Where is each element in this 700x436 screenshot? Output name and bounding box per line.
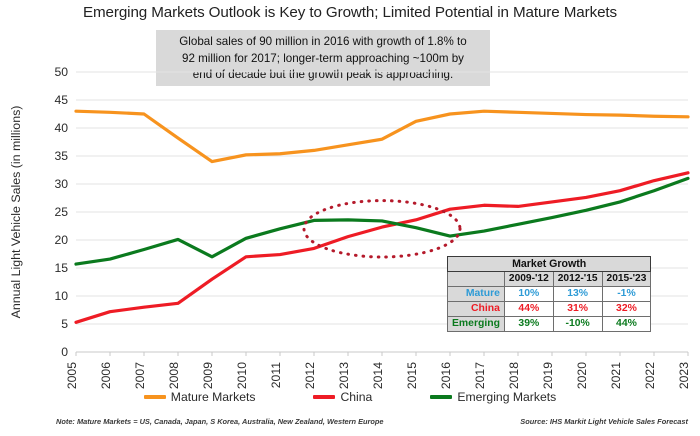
y-tick-label: 40	[54, 121, 68, 135]
market-growth-table: Market Growth 2009-'122012-'152015-'23 M…	[447, 256, 651, 332]
growth-table-cell: 39%	[504, 317, 553, 332]
y-tick-label: 15	[54, 261, 68, 275]
x-tick-label: 2013	[337, 362, 351, 389]
growth-table-cell: 13%	[553, 287, 602, 302]
growth-table-cell: 32%	[602, 302, 651, 317]
x-tick-label: 2021	[609, 362, 623, 389]
growth-table-col-header: 2015-'23	[602, 272, 651, 287]
x-tick-label: 2016	[439, 362, 453, 389]
series-line-mature-markets	[76, 111, 688, 161]
chart-legend: Mature MarketsChinaEmerging Markets	[0, 390, 700, 404]
legend-label: Emerging Markets	[457, 390, 556, 404]
x-tick-label: 2018	[507, 362, 521, 389]
growth-table-title: Market Growth	[448, 257, 651, 272]
legend-item-mature-markets[interactable]: Mature Markets	[144, 390, 256, 404]
slide-root: Emerging Markets Outlook is Key to Growt…	[0, 0, 700, 436]
y-tick-label: 45	[54, 93, 68, 107]
growth-table-cell: -10%	[553, 317, 602, 332]
growth-table-row-label: Mature	[448, 287, 505, 302]
growth-table-row: Mature10%13%-1%	[448, 287, 651, 302]
legend-label: China	[340, 390, 372, 404]
x-tick-label: 2005	[65, 362, 79, 389]
growth-table-body: Mature10%13%-1%China44%31%32%Emerging39%…	[448, 287, 651, 332]
y-tick-label: 35	[54, 149, 68, 163]
growth-table-cell: -1%	[602, 287, 651, 302]
growth-table-col-header: 2009-'12	[504, 272, 553, 287]
legend-swatch-icon	[313, 395, 335, 399]
x-tick-label: 2020	[575, 362, 589, 389]
y-axis-title: Annual Light Vehicle Sales (in millions)	[9, 106, 23, 319]
y-tick-label: 5	[61, 317, 68, 331]
growth-table-col-header: 2012-'15	[553, 272, 602, 287]
y-tick-label: 25	[54, 205, 68, 219]
x-tick-label: 2014	[371, 362, 385, 389]
growth-table-row-label: Emerging	[448, 317, 505, 332]
growth-table-header-row: 2009-'122012-'152015-'23	[448, 272, 651, 287]
y-tick-label: 20	[54, 233, 68, 247]
x-tick-label: 2012	[303, 362, 317, 389]
x-tick-label: 2009	[201, 362, 215, 389]
growth-table-cell: 44%	[602, 317, 651, 332]
growth-table-corner	[448, 272, 505, 287]
x-tick-label: 2019	[541, 362, 555, 389]
growth-table-row: Emerging39%-10%44%	[448, 317, 651, 332]
y-tick-label: 30	[54, 177, 68, 191]
x-tick-label: 2010	[235, 362, 249, 389]
x-tick-label: 2008	[167, 362, 181, 389]
growth-table-cell: 31%	[553, 302, 602, 317]
legend-swatch-icon	[430, 395, 452, 399]
x-tick-label: 2023	[677, 362, 691, 389]
growth-table-cell: 44%	[504, 302, 553, 317]
y-tick-label: 10	[54, 289, 68, 303]
x-tick-label: 2017	[473, 362, 487, 389]
x-tick-label: 2006	[99, 362, 113, 389]
series-line-emerging-markets	[76, 178, 688, 264]
y-tick-label: 0	[61, 345, 68, 359]
crossover-highlight-annotation	[304, 201, 460, 257]
footer-source: Source: IHS Markit Light Vehicle Sales F…	[520, 417, 688, 426]
x-tick-label: 2022	[643, 362, 657, 389]
y-tick-label: 50	[54, 65, 68, 79]
x-tick-label: 2007	[133, 362, 147, 389]
line-chart: Annual Light Vehicle Sales (in millions)…	[0, 0, 700, 400]
legend-label: Mature Markets	[171, 390, 256, 404]
x-tick-label: 2011	[269, 362, 283, 388]
legend-item-china[interactable]: China	[313, 390, 372, 404]
growth-table-row: China44%31%32%	[448, 302, 651, 317]
legend-swatch-icon	[144, 395, 166, 399]
legend-item-emerging-markets[interactable]: Emerging Markets	[430, 390, 556, 404]
growth-table-row-label: China	[448, 302, 505, 317]
growth-table-cell: 10%	[504, 287, 553, 302]
x-tick-label: 2015	[405, 362, 419, 389]
footer-note: Note: Mature Markets = US, Canada, Japan…	[56, 417, 384, 426]
